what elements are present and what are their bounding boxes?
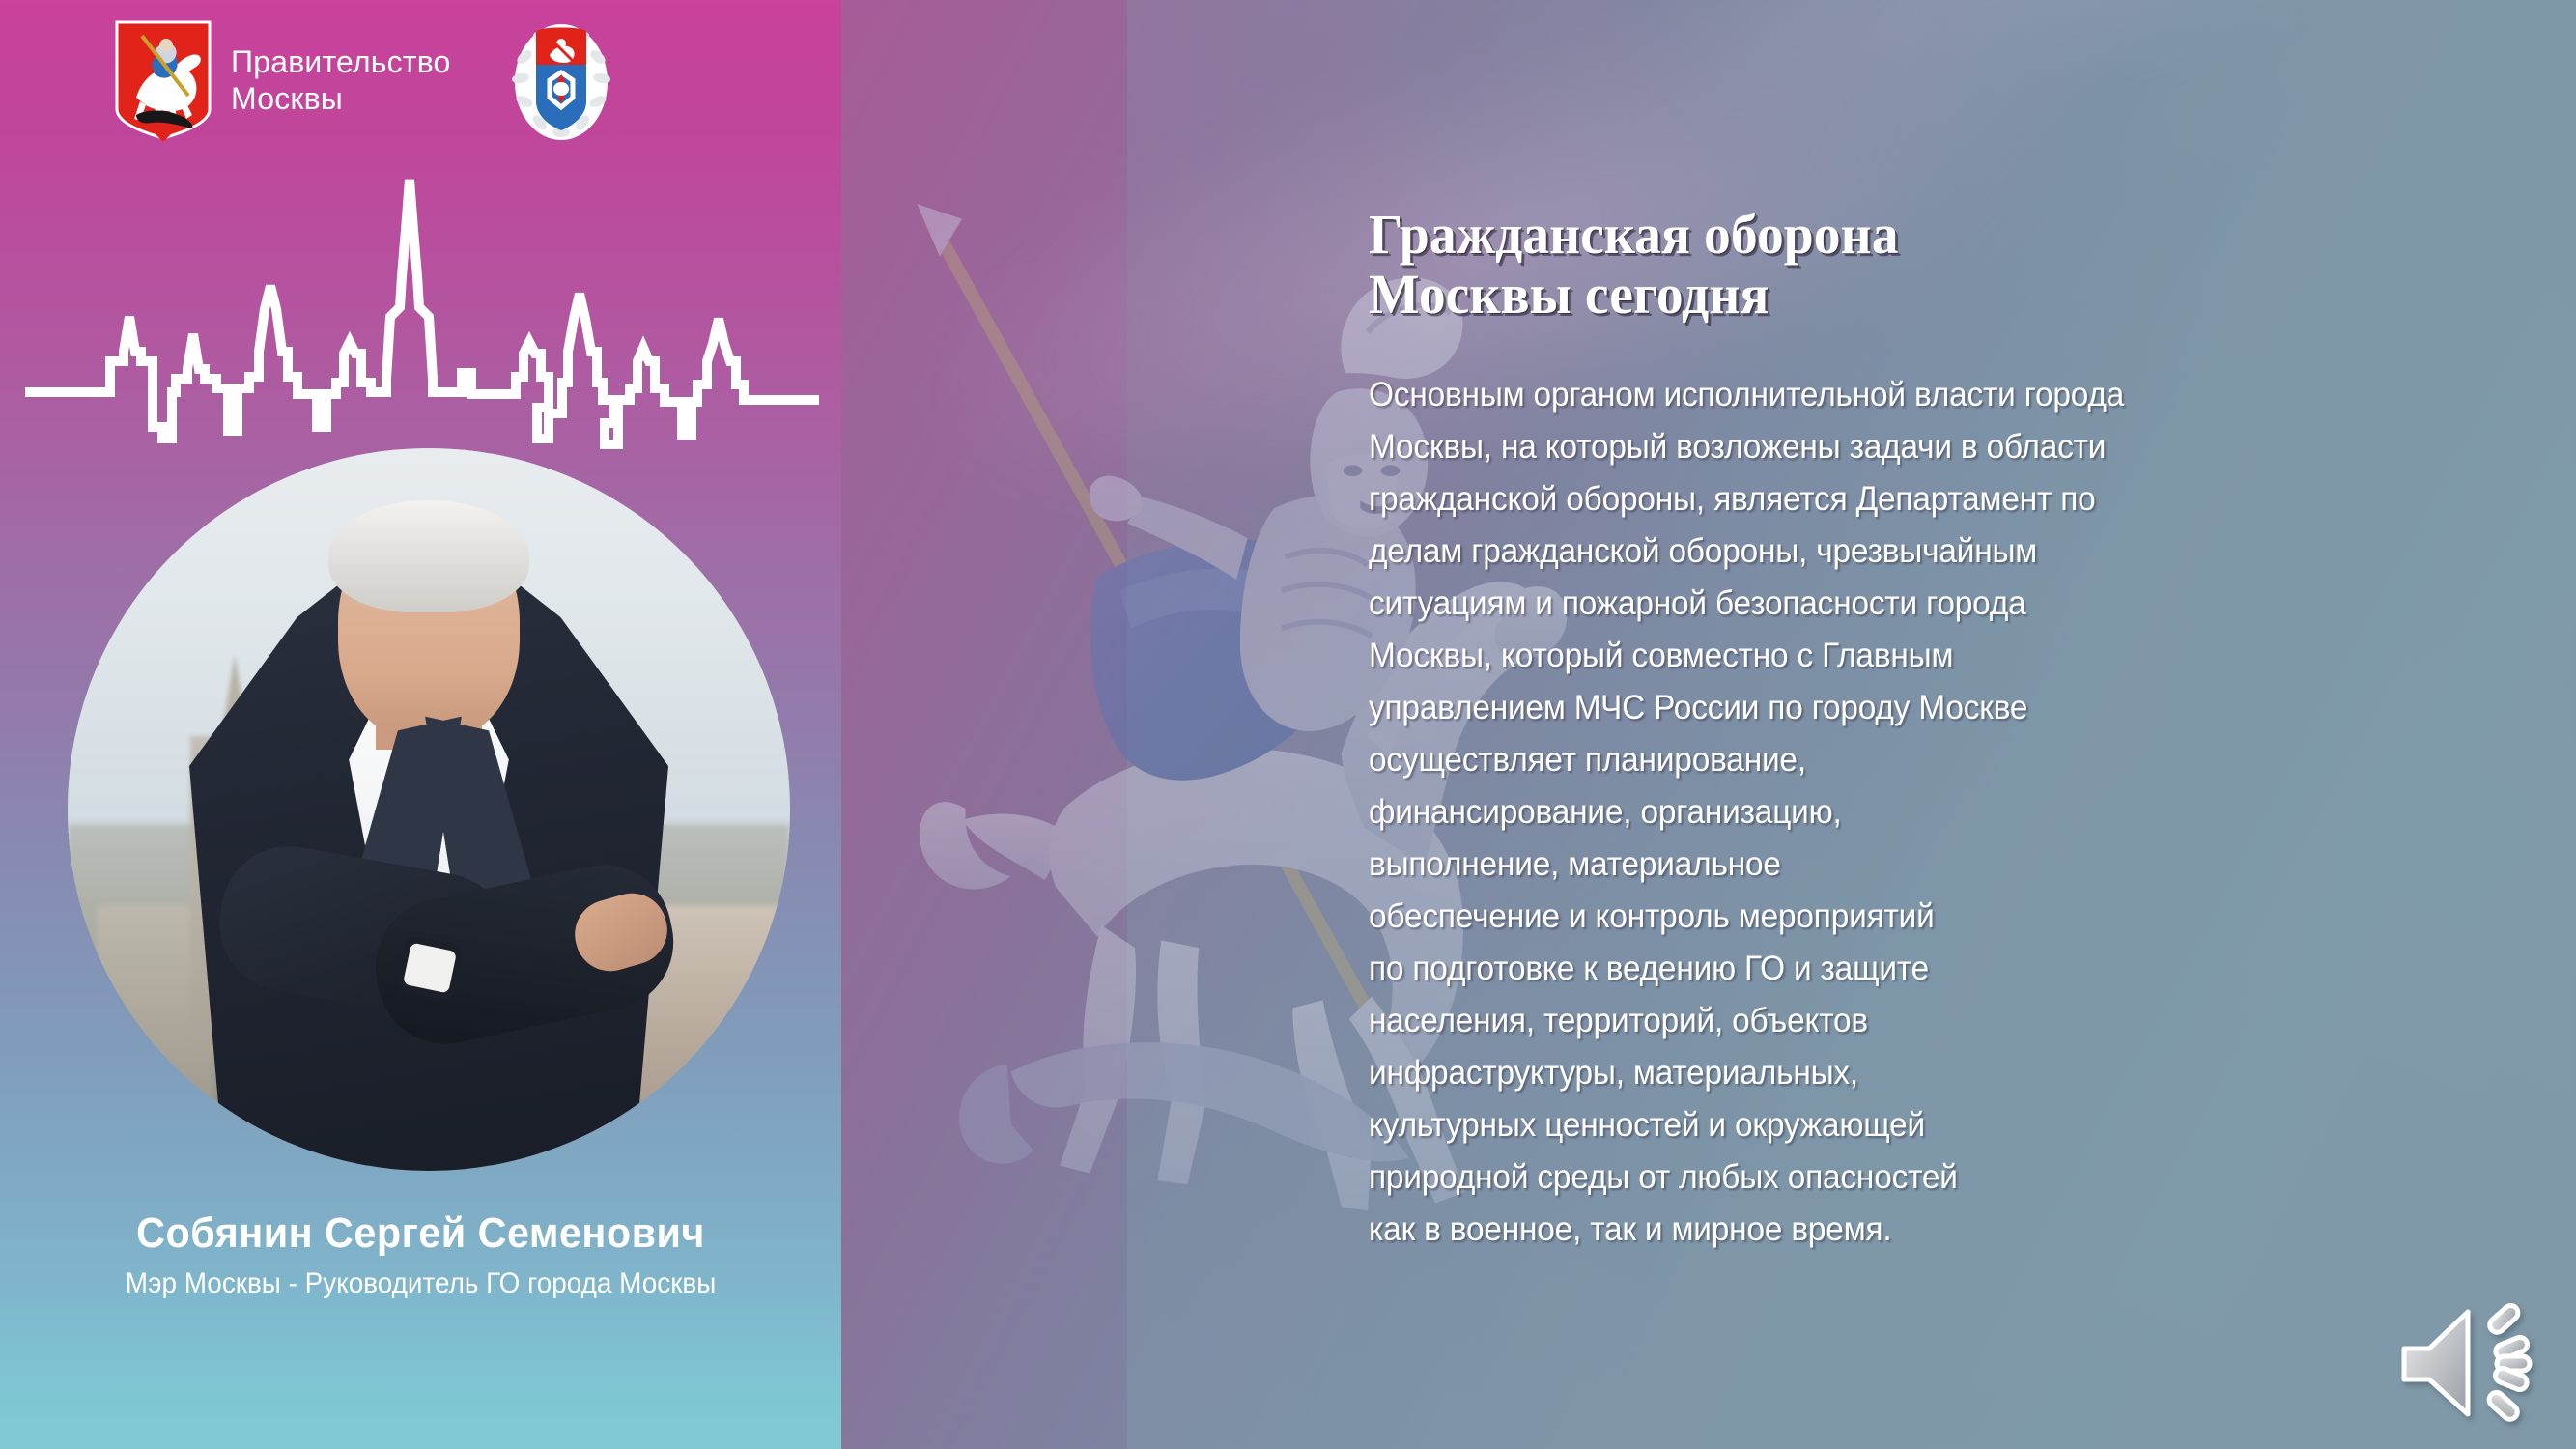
body-paragraph: Основным органом исполнительной власти г…	[1369, 369, 2402, 1256]
person-role: Мэр Москвы - Руководитель ГО города Моск…	[29, 1265, 811, 1302]
presentation-slide: Правительство Москвы	[0, 0, 2576, 1449]
civil-defense-emblem-icon	[511, 18, 611, 142]
government-logo-label: Правительство Москвы	[231, 43, 451, 117]
moscow-coat-of-arms-icon	[113, 18, 213, 142]
mayor-portrait-photo	[68, 448, 790, 1171]
speaker-audio-icon[interactable]	[2387, 1291, 2549, 1435]
slide-content: Гражданская оборона Москвы сегодня Основ…	[1369, 205, 2450, 1256]
left-sidebar-panel: Правительство Москвы	[0, 0, 841, 1449]
page-title: Гражданская оборона Москвы сегодня	[1369, 205, 2407, 325]
person-name: Собянин Сергей Семенович	[25, 1207, 816, 1260]
moscow-skyline-icon	[21, 172, 823, 462]
person-caption: Собянин Сергей Семенович Мэр Москвы - Ру…	[0, 1207, 841, 1302]
left-panel-header: Правительство Москвы	[0, 17, 841, 143]
